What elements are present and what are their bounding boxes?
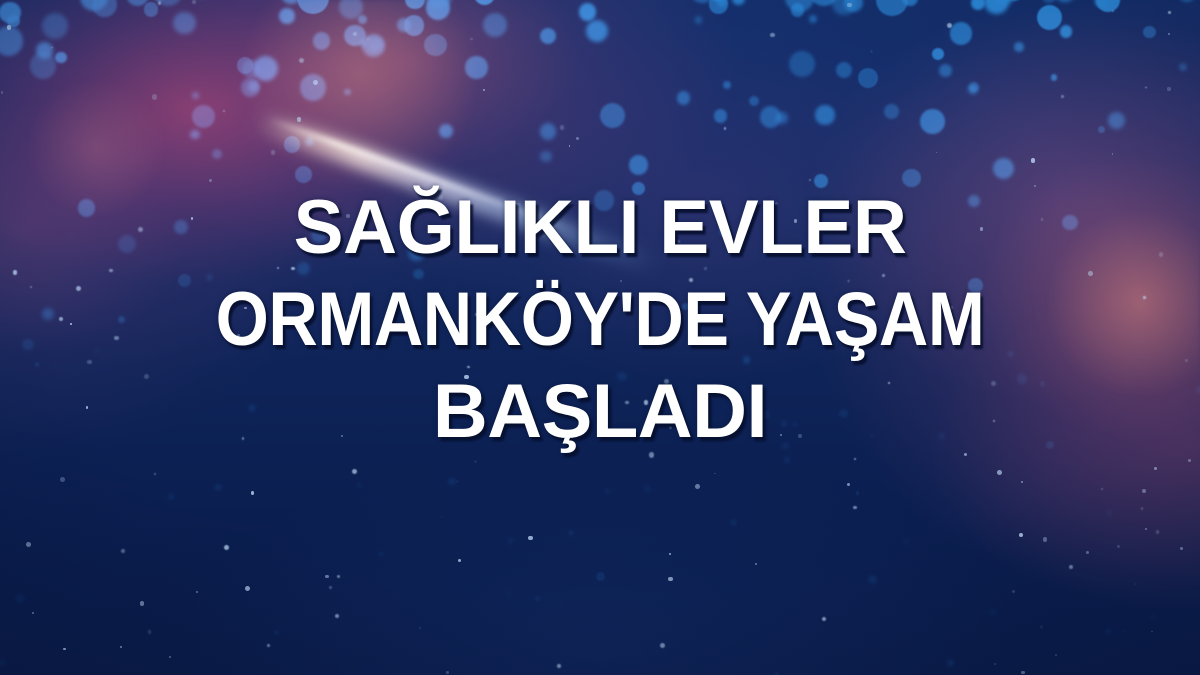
bokeh-dot <box>339 0 363 19</box>
star-speck <box>1145 87 1147 89</box>
star-speck <box>1043 537 1047 541</box>
star-speck <box>325 575 329 579</box>
bokeh-dot <box>690 0 716 3</box>
bokeh-dot <box>1178 0 1196 2</box>
star-speck <box>755 563 757 565</box>
star-speck <box>121 549 125 553</box>
star-speck <box>724 127 726 129</box>
bokeh-dot <box>586 20 608 42</box>
bokeh-dot <box>405 0 425 9</box>
bokeh-dot <box>809 15 817 23</box>
bokeh-dot <box>295 166 312 183</box>
bokeh-dot <box>448 478 455 485</box>
bokeh-dot <box>1108 112 1125 129</box>
bokeh-dot <box>990 610 995 615</box>
bokeh-dot <box>362 34 385 57</box>
bokeh-dot <box>776 112 788 124</box>
bokeh-dot <box>1005 0 1024 1</box>
bokeh-dot <box>844 0 863 12</box>
bokeh-dot <box>969 82 979 92</box>
bokeh-dot <box>1179 63 1187 71</box>
bokeh-dot <box>507 591 511 595</box>
bokeh-dot <box>1014 42 1024 52</box>
bokeh-dot <box>465 56 487 78</box>
bokeh-dot <box>932 48 944 60</box>
star-speck <box>1055 654 1058 657</box>
bokeh-dot <box>1042 0 1056 3</box>
bokeh-dot <box>920 109 944 133</box>
bokeh-dot <box>644 485 651 492</box>
star-speck <box>457 481 459 483</box>
star-speck <box>366 37 370 41</box>
star-speck <box>936 152 938 154</box>
star-speck <box>847 483 850 486</box>
bokeh-dot <box>241 78 260 97</box>
bokeh-dot <box>344 25 366 47</box>
bokeh-dot <box>600 103 626 129</box>
star-speck <box>997 470 1002 475</box>
bokeh-dot <box>1107 510 1112 515</box>
bokeh-dot <box>950 22 973 45</box>
star-speck <box>313 80 318 85</box>
bokeh-dot <box>1094 0 1108 8</box>
star-speck <box>1135 583 1137 585</box>
star-speck <box>152 94 157 99</box>
star-speck <box>871 51 872 52</box>
bokeh-dot <box>1106 629 1111 634</box>
bokeh-dot <box>1051 74 1058 81</box>
star-speck <box>1112 153 1113 154</box>
star-speck <box>352 469 357 474</box>
bokeh-dot <box>284 136 301 153</box>
bokeh-dot <box>126 0 149 6</box>
star-speck <box>470 38 473 41</box>
bokeh-dot <box>397 18 411 32</box>
bokeh-dot <box>939 64 952 77</box>
bokeh-dot <box>92 0 116 17</box>
star-speck <box>458 559 461 562</box>
bokeh-dot <box>596 572 605 581</box>
star-speck <box>446 671 449 674</box>
bokeh-dot <box>237 57 254 74</box>
bokeh-dot <box>80 0 108 11</box>
star-speck <box>1188 459 1191 462</box>
bokeh-dot <box>993 0 1016 4</box>
bokeh-dot <box>42 13 68 39</box>
star-speck <box>267 644 270 647</box>
bokeh-dot <box>426 0 451 9</box>
star-speck <box>770 33 775 38</box>
headline-line-1: SAĞLIKLI EVLER <box>9 182 1191 274</box>
star-speck <box>1141 507 1144 510</box>
bokeh-dot <box>7 15 20 28</box>
bokeh-dot <box>379 552 383 556</box>
star-speck <box>297 117 302 122</box>
bokeh-dot <box>789 51 815 77</box>
star-speck <box>1086 551 1089 554</box>
bokeh-dot <box>695 16 703 24</box>
star-speck <box>560 125 564 129</box>
bokeh-dot <box>360 40 367 47</box>
star-speck <box>158 1 162 5</box>
bokeh-dot <box>404 15 425 36</box>
star-speck <box>1019 533 1023 537</box>
star-speck <box>1061 95 1064 98</box>
bokeh-dot <box>55 52 66 63</box>
star-speck <box>7 25 11 29</box>
star-speck <box>822 617 826 621</box>
star-speck <box>1168 11 1171 14</box>
star-speck <box>353 32 357 36</box>
bokeh-dot <box>248 81 259 92</box>
bokeh-dot <box>36 42 53 59</box>
bokeh-dot <box>579 3 597 21</box>
star-speck <box>1031 158 1035 162</box>
bokeh-dot <box>809 0 839 6</box>
bokeh-dot <box>868 575 877 584</box>
star-speck <box>1101 488 1103 490</box>
bokeh-dot <box>1037 5 1062 30</box>
star-speck <box>557 664 561 668</box>
bokeh-dot <box>876 0 908 16</box>
bokeh-dot <box>605 489 609 493</box>
star-speck <box>853 506 856 509</box>
bokeh-dot <box>30 52 56 78</box>
bokeh-dot <box>732 0 745 5</box>
bokeh-dot <box>561 604 564 607</box>
star-speck <box>947 23 952 28</box>
star-speck <box>169 656 171 658</box>
star-speck <box>847 3 852 8</box>
bokeh-dot <box>760 106 782 128</box>
bokeh-dot <box>947 659 954 666</box>
star-speck <box>120 646 122 648</box>
bokeh-dot <box>300 74 326 100</box>
bokeh-dot <box>214 484 222 492</box>
bokeh-dot <box>629 155 648 174</box>
bokeh-dot <box>723 81 731 89</box>
bokeh-dot <box>15 594 25 604</box>
star-speck <box>714 473 716 475</box>
bokeh-dot <box>274 630 279 635</box>
bokeh-dot <box>305 137 314 146</box>
star-speck <box>668 577 673 582</box>
bokeh-dot <box>540 151 552 163</box>
headline-line-3: BAŞLADI <box>0 366 1200 458</box>
bokeh-dot <box>836 62 852 78</box>
bokeh-dot <box>313 32 330 49</box>
bokeh-dot <box>426 0 450 20</box>
page-title: SAĞLIKLI EVLER ORMANKÖY'DE YAŞAM BAŞLADI <box>0 182 1200 458</box>
bokeh-dot <box>710 0 725 2</box>
star-speck <box>1117 545 1120 548</box>
star-speck <box>192 0 196 4</box>
star-speck <box>419 627 421 629</box>
star-speck <box>60 477 65 482</box>
star-speck <box>1021 671 1025 675</box>
bokeh-dot <box>856 491 860 495</box>
star-speck <box>329 586 332 589</box>
star-speck <box>223 110 226 113</box>
bokeh-dot <box>884 104 899 119</box>
bokeh-dot <box>151 0 167 1</box>
star-speck <box>1154 467 1157 470</box>
bokeh-dot <box>424 34 446 56</box>
bokeh-dot <box>144 2 159 17</box>
star-speck <box>660 643 665 648</box>
star-speck <box>1151 631 1152 632</box>
star-speck <box>1069 565 1073 569</box>
star-speck <box>695 484 700 489</box>
bokeh-dot <box>971 0 985 10</box>
bokeh-dot <box>714 109 728 123</box>
bokeh-dot <box>367 37 382 52</box>
star-speck <box>1142 489 1146 493</box>
bokeh-dot <box>474 0 495 5</box>
star-speck <box>245 586 250 591</box>
star-speck <box>1112 10 1114 12</box>
bokeh-dot <box>190 130 199 139</box>
bokeh-dot <box>192 105 215 128</box>
bokeh-dot <box>785 0 814 12</box>
star-speck <box>335 614 340 619</box>
star-speck <box>51 47 53 49</box>
headline-line-2: ORMANKÖY'DE YAŞAM <box>60 274 1140 366</box>
bokeh-dot <box>717 0 728 7</box>
news-banner: SAĞLIKLI EVLER ORMANKÖY'DE YAŞAM BAŞLADI <box>0 0 1200 675</box>
star-speck <box>32 612 34 614</box>
bokeh-dot <box>540 123 556 139</box>
bokeh-dot <box>791 3 805 17</box>
bokeh-dot <box>730 519 737 526</box>
bokeh-dot <box>984 0 1009 14</box>
star-speck <box>483 89 485 91</box>
star-speck <box>337 575 340 578</box>
bokeh-dot <box>832 0 857 15</box>
star-speck <box>154 473 156 475</box>
star-speck <box>669 553 671 555</box>
bokeh-dot <box>1054 0 1077 2</box>
bokeh-dot <box>242 60 260 78</box>
star-speck <box>1 91 3 93</box>
star-speck <box>63 648 66 651</box>
bokeh-dot <box>508 538 514 544</box>
bokeh-dot <box>858 68 878 88</box>
bokeh-dot <box>356 483 362 489</box>
bokeh-dot <box>0 659 5 666</box>
bokeh-dot <box>749 96 760 107</box>
bokeh-dot <box>1096 0 1120 12</box>
star-speck <box>140 601 145 606</box>
bokeh-dot <box>1060 25 1073 38</box>
star-speck <box>528 536 532 540</box>
star-speck <box>1012 590 1015 593</box>
bokeh-dot <box>535 596 540 601</box>
star-speck <box>1168 33 1170 35</box>
bokeh-dot <box>441 516 443 518</box>
bokeh-dot <box>281 0 301 4</box>
bokeh-dot <box>483 13 507 37</box>
bokeh-dot <box>279 8 295 24</box>
star-speck <box>299 58 304 63</box>
bokeh-dot <box>568 530 574 536</box>
star-speck <box>1021 481 1022 482</box>
bokeh-dot <box>815 105 834 124</box>
star-speck <box>196 591 198 593</box>
bokeh-dot <box>993 158 1014 179</box>
star-speck <box>1156 530 1159 533</box>
star-speck <box>1041 626 1043 628</box>
star-speck <box>1180 547 1183 550</box>
star-speck <box>475 461 477 463</box>
bokeh-dot <box>0 2 21 24</box>
bokeh-dot <box>677 91 690 104</box>
bokeh-dot <box>192 92 199 99</box>
star-speck <box>809 179 811 181</box>
star-speck <box>224 545 229 550</box>
star-speck <box>569 145 571 147</box>
bokeh-dot <box>173 12 196 35</box>
star-speck <box>1167 87 1170 90</box>
bokeh-dot <box>358 15 367 24</box>
bokeh-dot <box>968 84 978 94</box>
star-speck <box>1145 528 1147 530</box>
bokeh-dot <box>1143 26 1155 38</box>
star-speck <box>576 137 579 140</box>
bokeh-dot <box>168 494 174 500</box>
bokeh-dot <box>154 0 182 6</box>
star-speck <box>148 630 151 633</box>
bokeh-dot <box>902 0 918 6</box>
bokeh-dot <box>1098 126 1105 133</box>
bokeh-dot <box>344 89 350 95</box>
bokeh-dot <box>212 149 222 159</box>
bokeh-dot <box>0 26 23 55</box>
bokeh-dot <box>540 28 556 44</box>
star-speck <box>994 663 996 665</box>
bokeh-dot <box>439 124 453 138</box>
star-speck <box>251 491 255 495</box>
bokeh-dot <box>904 539 909 544</box>
bokeh-dot <box>297 0 329 14</box>
star-speck <box>271 150 276 155</box>
bokeh-dot <box>1123 630 1125 632</box>
bokeh-dot <box>253 56 278 81</box>
bokeh-dot <box>709 0 729 14</box>
bokeh-dot <box>1151 615 1155 619</box>
star-speck <box>26 542 31 547</box>
